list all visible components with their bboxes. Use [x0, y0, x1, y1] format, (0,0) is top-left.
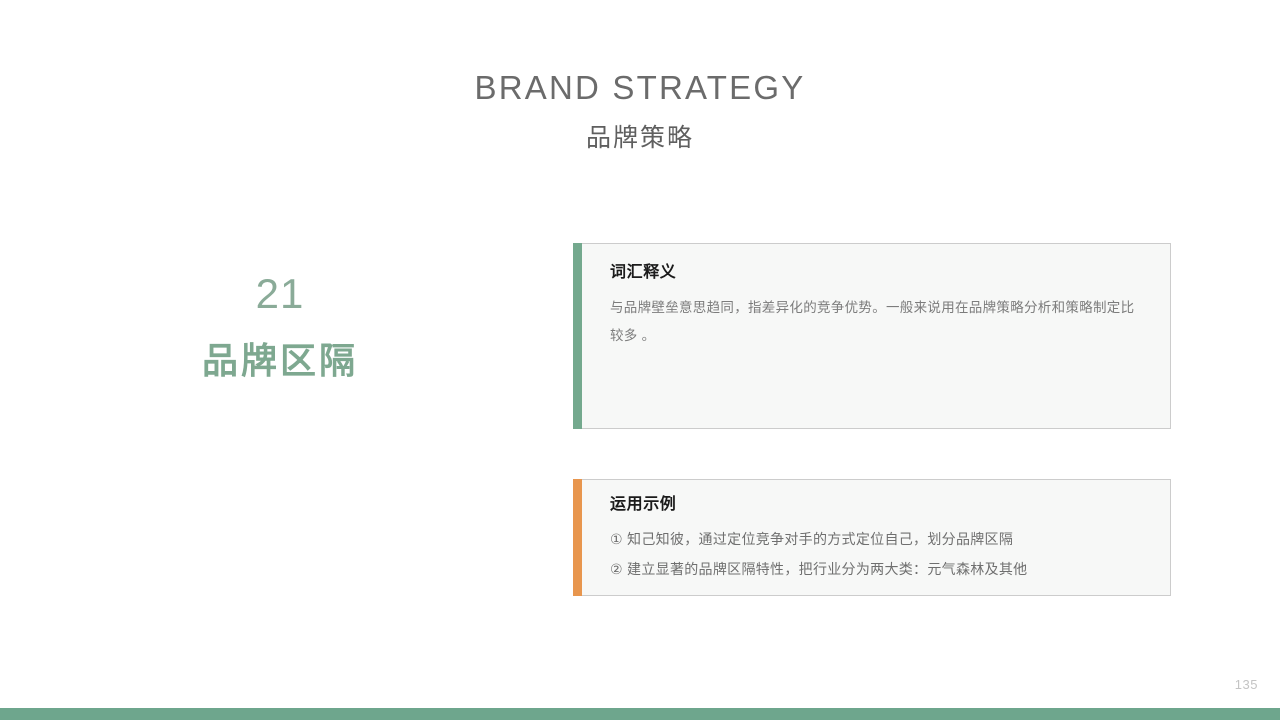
card-examples-title: 运用示例	[610, 494, 1152, 516]
card-definition-title: 词汇释义	[610, 262, 1152, 284]
card-definition: 词汇释义 与品牌壁垒意思趋同，指差异化的竞争优势。一般来说用在品牌策略分析和策略…	[573, 243, 1171, 429]
section-label: 品牌区隔	[60, 338, 500, 384]
page-number: 135	[1235, 677, 1258, 692]
card-accent-bar-green	[573, 243, 582, 429]
card-examples-list: ① 知己知彼，通过定位竞争对手的方式定位自己，划分品牌区隔 ② 建立显著的品牌区…	[610, 524, 1152, 584]
title-english: BRAND STRATEGY	[0, 68, 1280, 108]
list-item: ② 建立显著的品牌区隔特性，把行业分为两大类：元气森林及其他	[610, 554, 1152, 584]
section-number: 21	[60, 268, 500, 320]
slide-canvas: BRAND STRATEGY 品牌策略 21 品牌区隔 词汇释义 与品牌壁垒意思…	[0, 0, 1280, 720]
list-item: ① 知己知彼，通过定位竞争对手的方式定位自己，划分品牌区隔	[610, 524, 1152, 554]
card-definition-body: 与品牌壁垒意思趋同，指差异化的竞争优势。一般来说用在品牌策略分析和策略制定比较多…	[610, 294, 1144, 350]
title-chinese: 品牌策略	[0, 122, 1280, 154]
section-marker: 21 品牌区隔	[60, 268, 500, 384]
card-examples-content: 运用示例 ① 知己知彼，通过定位竞争对手的方式定位自己，划分品牌区隔 ② 建立显…	[610, 480, 1152, 595]
card-definition-content: 词汇释义 与品牌壁垒意思趋同，指差异化的竞争优势。一般来说用在品牌策略分析和策略…	[610, 244, 1152, 428]
slide-title-block: BRAND STRATEGY 品牌策略	[0, 68, 1280, 154]
card-accent-bar-orange	[573, 479, 582, 596]
footer-accent-bar	[0, 708, 1280, 720]
card-examples: 运用示例 ① 知己知彼，通过定位竞争对手的方式定位自己，划分品牌区隔 ② 建立显…	[573, 479, 1171, 596]
